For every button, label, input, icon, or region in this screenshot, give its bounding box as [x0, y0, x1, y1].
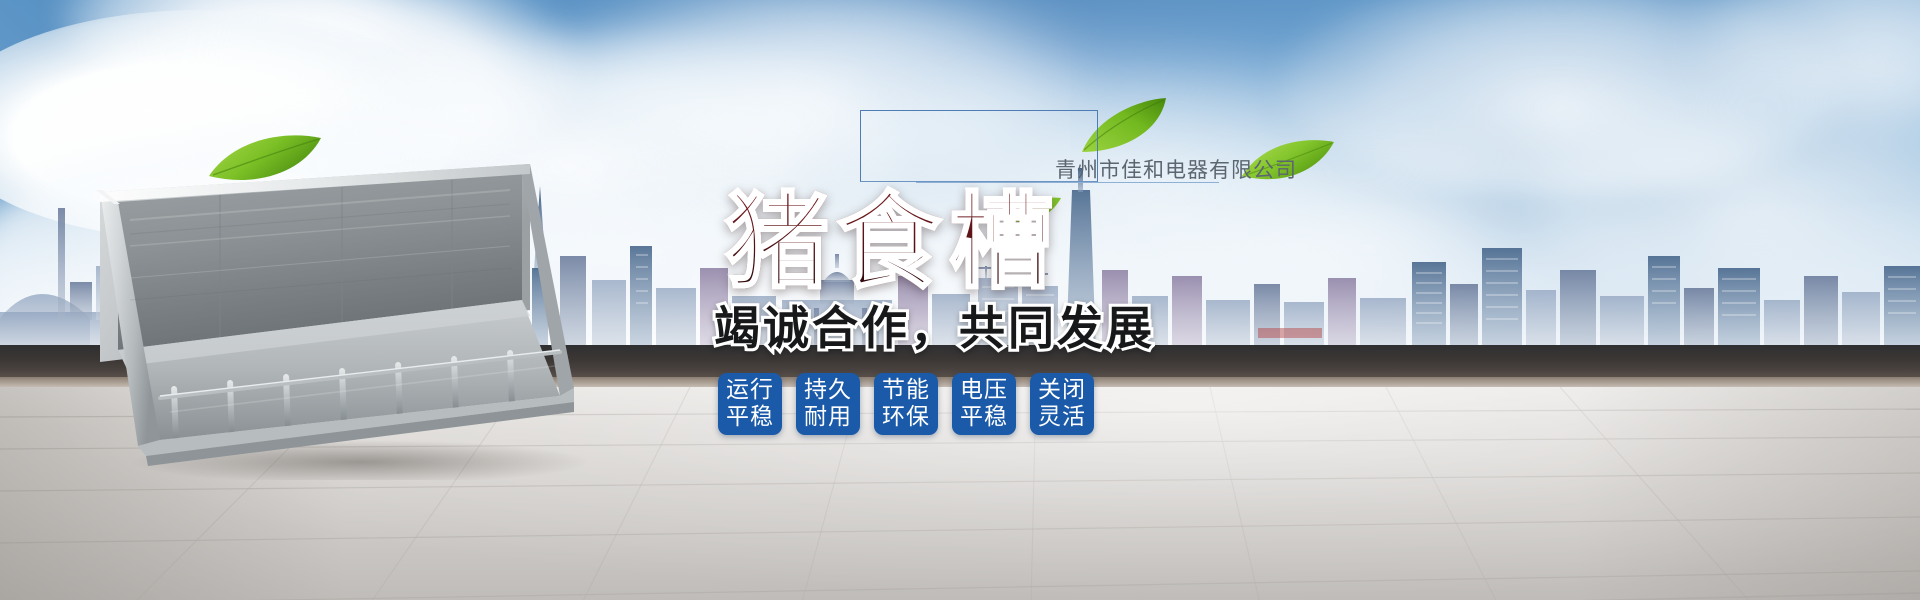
banner-subtitle: 竭诚合作，共同发展 [714, 305, 1155, 351]
feature-badge: 关闭 灵活 [1030, 373, 1094, 435]
feature-badge-line1: 持久 [804, 377, 852, 404]
feature-badge-line1: 关闭 [1038, 377, 1086, 404]
page-title: 猪食槽 [725, 190, 1061, 294]
feature-badge: 运行 平稳 [718, 373, 782, 435]
feature-badge-line2: 环保 [882, 404, 930, 431]
promo-banner: 青州市佳和电器有限公司 猪食槽 竭诚合作，共同发展 运行 平稳 持久 耐用 节能… [0, 0, 1920, 600]
product-image-feed-trough [60, 150, 620, 480]
feature-badge-line1: 节能 [882, 377, 930, 404]
banner-copy-block: 青州市佳和电器有限公司 猪食槽 竭诚合作，共同发展 运行 平稳 持久 耐用 节能… [700, 95, 1220, 555]
feature-badge: 电压 平稳 [952, 373, 1016, 435]
feature-badge: 持久 耐用 [796, 373, 860, 435]
feature-badge-line2: 平稳 [960, 404, 1008, 431]
feature-badge: 节能 环保 [874, 373, 938, 435]
feature-badge-line2: 平稳 [726, 404, 774, 431]
feature-badge-line2: 耐用 [804, 404, 852, 431]
feature-badge-line1: 运行 [726, 377, 774, 404]
feature-badge-line1: 电压 [960, 377, 1008, 404]
company-name: 青州市佳和电器有限公司 [1055, 154, 1297, 184]
feature-badge-list: 运行 平稳 持久 耐用 节能 环保 电压 平稳 关闭 灵活 [718, 373, 1094, 435]
leaf-icon [205, 132, 325, 186]
feature-badge-line2: 灵活 [1038, 404, 1086, 431]
